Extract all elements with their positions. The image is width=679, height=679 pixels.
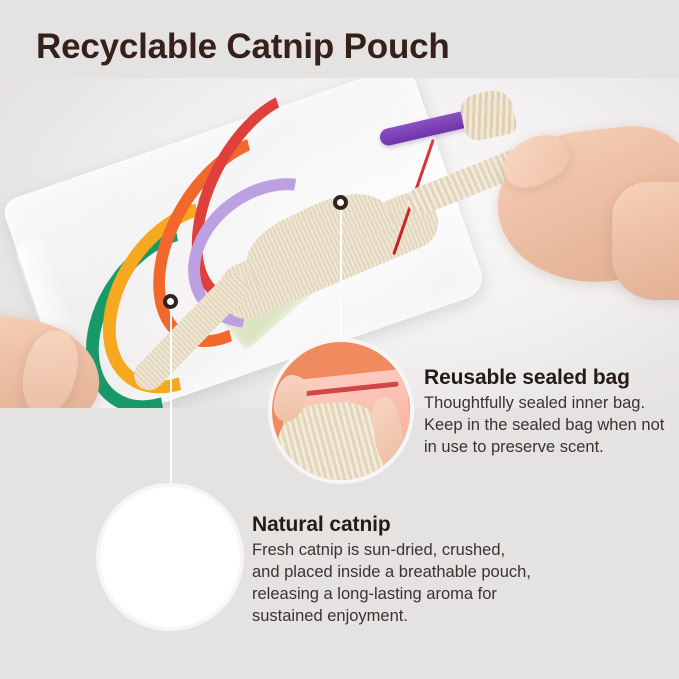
callout-text-natural-catnip: Natural catnip Fresh catnip is sun-dried… — [252, 513, 532, 628]
callout-heading-sealed-bag: Reusable sealed bag — [424, 366, 672, 390]
reusable-sealed-bag-inset[interactable] — [268, 338, 414, 484]
callout-body-natural-catnip: Fresh catnip is sun-dried, crushed, and … — [252, 540, 532, 628]
product-infographic: Recyclable Catnip Pouch — [0, 0, 679, 679]
natural-catnip-inset[interactable] — [96, 483, 244, 631]
callout-heading-natural-catnip: Natural catnip — [252, 513, 532, 537]
marker-sealed-bag[interactable] — [333, 195, 348, 210]
page-title: Recyclable Catnip Pouch — [36, 27, 450, 67]
leader-line-sealed-bag — [340, 208, 342, 342]
dried-catnip-flakes — [108, 494, 228, 617]
callout-body-sealed-bag: Thoughtfully sealed inner bag. Keep in t… — [424, 393, 672, 459]
callout-text-sealed-bag: Reusable sealed bag Thoughtfully sealed … — [424, 366, 672, 459]
leader-line-natural-catnip — [170, 308, 172, 488]
marker-natural-catnip[interactable] — [163, 294, 178, 309]
right-forearm — [612, 182, 679, 300]
